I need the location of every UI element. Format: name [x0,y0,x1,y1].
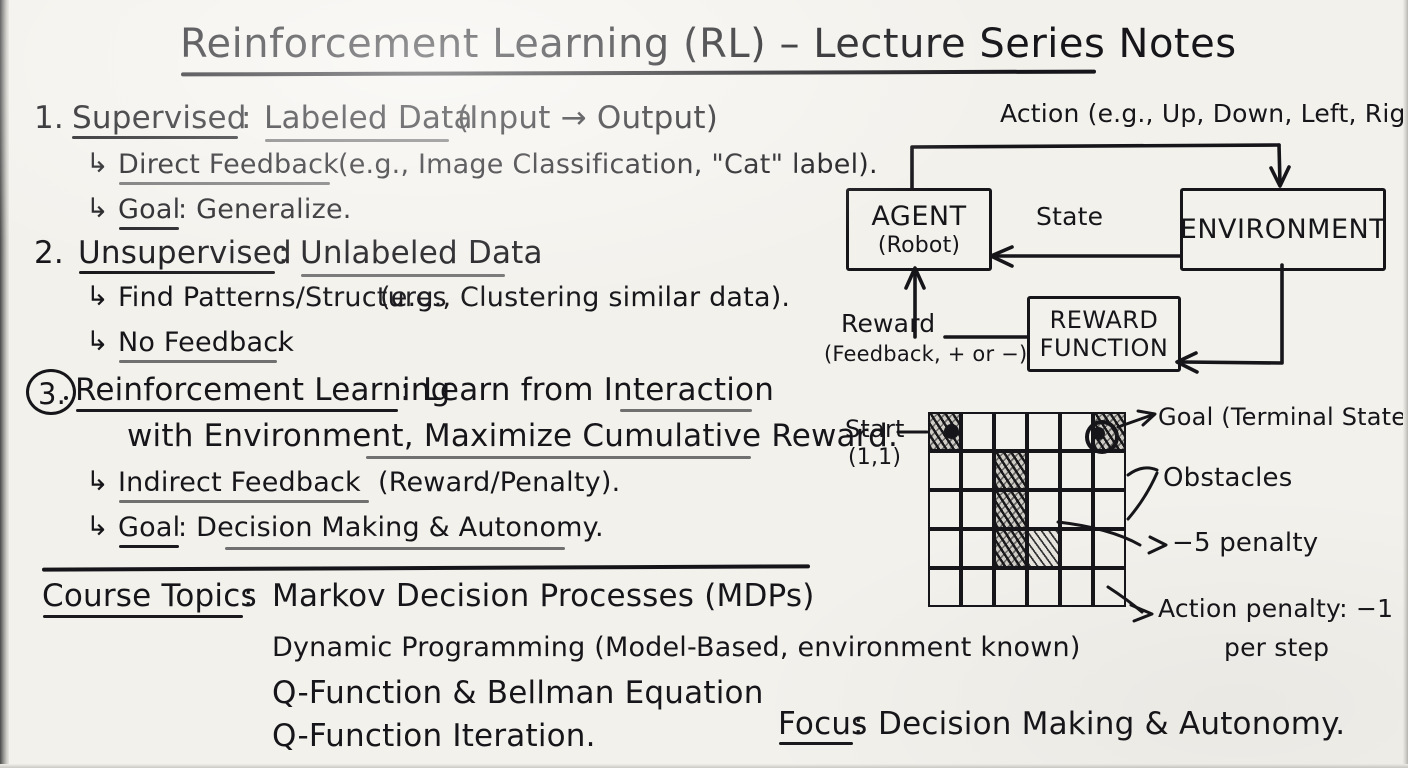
sub-lead-no-feedback: No Feedback [118,329,294,356]
gridworld-start-coords: (1,1) [848,447,901,469]
agent-box-title: AGENT [871,201,966,232]
grid-cell [961,529,994,568]
gridworld-start-label: Start [845,417,905,441]
gridworld-obstacles-label: Obstacles [1163,465,1293,491]
underline-direct-feedback [119,182,330,185]
course-topic-item: Dynamic Programming (Model-Based, enviro… [272,634,1081,661]
grid-cell [1093,529,1126,568]
underline-goal-3 [119,545,179,548]
diagram-action-label: Action (e.g., Up, Down, Left, Right) [1000,101,1408,126]
underline-supervised [72,136,238,139]
colon-2: : [278,238,289,269]
grid-cell [1027,568,1060,607]
section-divider [42,564,810,571]
gridworld-penalty-label: −5 penalty [1172,530,1318,556]
environment-box: ENVIRONMENT [1180,188,1386,271]
sub-rest-no-feedback: . [276,329,285,356]
sub-lead-goal-3: Goal [118,514,180,541]
action-penalty-arrowhead [1131,605,1152,621]
diagram-state-label: State [1036,204,1103,229]
course-topic-item: Q-Function & Bellman Equation [272,678,764,709]
course-topic-item: Q-Function Iteration. [272,721,596,752]
term-reinforcement-learning: Reinforcement Learning [75,375,450,406]
gridworld-action-penalty-label: Action penalty: −1 [1158,596,1393,621]
reward-function-box: REWARD FUNCTION [1027,296,1181,372]
underline-unsupervised [79,271,275,274]
goal-leader-arrowhead [1138,411,1155,425]
grid-cell [961,412,994,451]
definition-unlabeled-data: Unlabeled Data [300,238,543,269]
grid-cell [1027,490,1060,529]
sub-arrow-icon-6: ↳ [86,513,109,540]
sub-arrow-icon: ↳ [86,150,109,177]
underline-no-feedback [119,360,277,363]
colon-1: : [241,103,252,134]
tail-input-output: (Input → Output) [457,103,718,134]
grid-goal-dot [1092,427,1105,440]
env-to-reward-path [1183,265,1282,363]
grid-cell-obstacle [994,451,1027,490]
sub-rest-goal-3: : Decision Making & Autonomy. [178,514,604,541]
sub-rest-indirect-feedback: (Reward/Penalty). [378,469,620,496]
focus-text: Decision Making & Autonomy. [878,709,1345,740]
colon-3: : [400,375,411,406]
grid-cell [928,451,961,490]
sub-rest-direct-feedback: (e.g., Image Classification, "Cat" label… [338,151,878,178]
grid-cell [994,412,1027,451]
sub-arrow-icon-4: ↳ [86,328,109,355]
environment-box-title: ENVIRONMENT [1180,214,1386,245]
grid-cell [961,568,994,607]
underline-focus [779,742,853,745]
gridworld-goal-label: Goal (Terminal State, +10) [1158,405,1408,429]
whiteboard-photo: Reinforcement Learning (RL) – Lecture Se… [0,0,1408,768]
grid-cell [1027,412,1060,451]
sub-arrow-icon-5: ↳ [86,468,109,495]
grid-cell [1060,451,1093,490]
grid-cell [1060,529,1093,568]
sub-lead-indirect-feedback: Indirect Feedback [118,469,361,496]
action-arrow-stem [1279,145,1280,184]
grid-cell [1060,568,1093,607]
term-unsupervised: Unsupervised [78,238,292,269]
obstacle-leader-1 [1128,468,1157,475]
state-arrowhead [991,247,1012,266]
list-number-3: 3. [38,377,66,411]
underline-goal-1 [119,227,179,230]
list-number-1: 1. [34,103,64,134]
action-arrowhead [1271,167,1289,186]
grid-cell [928,529,961,568]
list-number-2: 2. [34,238,64,269]
diagram-reward-sublabel: (Feedback, + or −) [824,344,1027,365]
grid-cell [1093,451,1126,490]
sub-lead-direct-feedback: Direct Feedback [118,151,339,178]
focus-colon: : [853,709,864,740]
gridworld-action-penalty-label-2: per step [1224,635,1329,660]
term-supervised: Supervised [72,103,247,134]
underline-course-topics [43,615,243,618]
grid-cell [1060,490,1093,529]
reward-function-line2: FUNCTION [1040,334,1169,362]
definition-labeled-data: Labeled Data [264,103,473,134]
definition-learn-from-interaction: Learn from Interaction [423,375,774,406]
grid-cell [1027,451,1060,490]
sub-arrow-icon-2: ↳ [86,195,109,222]
grid-cell [928,490,961,529]
grid-cell-obstacle [994,490,1027,529]
action-arrow-path [912,145,1279,188]
underline-maximize-cumulative-reward [366,456,751,459]
list-number-3-dot [64,396,68,400]
agent-box: AGENT (Robot) [846,188,992,271]
grid-cell-obstacle [994,529,1027,568]
underline-indirect-feedback [119,500,369,503]
grid-start-marker [944,424,959,439]
diagram-reward-label: Reward [841,311,935,336]
course-topics-heading: Course Topics [42,581,257,612]
obstacle-leader-2 [1128,473,1157,519]
sub-arrow-icon-3: ↳ [86,283,109,310]
agent-box-subtitle: (Robot) [878,233,960,258]
sub-rest-goal-1: : Generalize. [178,196,352,223]
board-frame-right [1403,0,1408,768]
grid-cell [961,490,994,529]
grid-cell [961,451,994,490]
board-frame-left [0,0,9,768]
page-title: Reinforcement Learning (RL) – Lecture Se… [180,24,1237,64]
underline-reinforcement-learning [76,409,398,412]
grid-cell [928,568,961,607]
grid-cell [994,568,1027,607]
underline-interaction [620,409,752,412]
underline-unlabeled-data [301,274,505,277]
title-underline [181,70,1096,77]
board-frame-bottom [0,764,1408,768]
grid-cell [1093,490,1126,529]
sub-lead-goal-1: Goal [118,196,180,223]
course-topic-item: Markov Decision Processes (MDPs) [272,581,815,612]
reward-function-line1: REWARD [1050,306,1159,334]
grid-cell-penalty [1027,529,1060,568]
underline-decision-making [225,547,565,550]
line-with-environment: with Environment, Maximize Cumulative Re… [127,421,898,452]
sub-rest-find-patterns: (e.g., Clustering similar data). [380,284,790,311]
grid-cell [1093,568,1126,607]
underline-labeled-data [265,139,449,142]
list-number-3-circle: 3. [26,369,76,415]
penalty-arrowhead [1149,537,1166,553]
reward-arrowhead [906,268,924,288]
course-topics-colon: : [243,581,254,612]
